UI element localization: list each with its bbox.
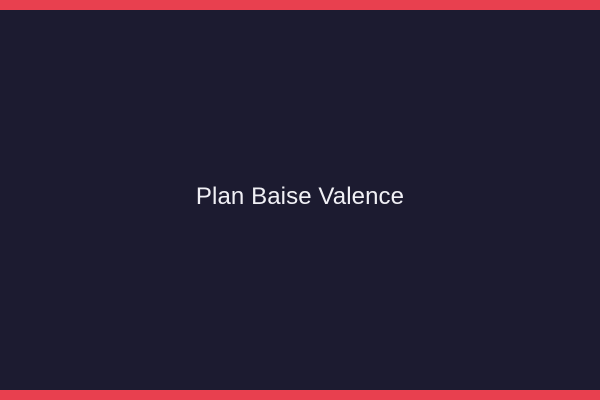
placeholder-banner: Plan Baise Valence — [0, 0, 600, 400]
banner-content-area: Plan Baise Valence — [0, 10, 600, 390]
top-accent-bar — [0, 0, 600, 10]
banner-title: Plan Baise Valence — [0, 183, 600, 212]
bottom-accent-bar — [0, 390, 600, 400]
